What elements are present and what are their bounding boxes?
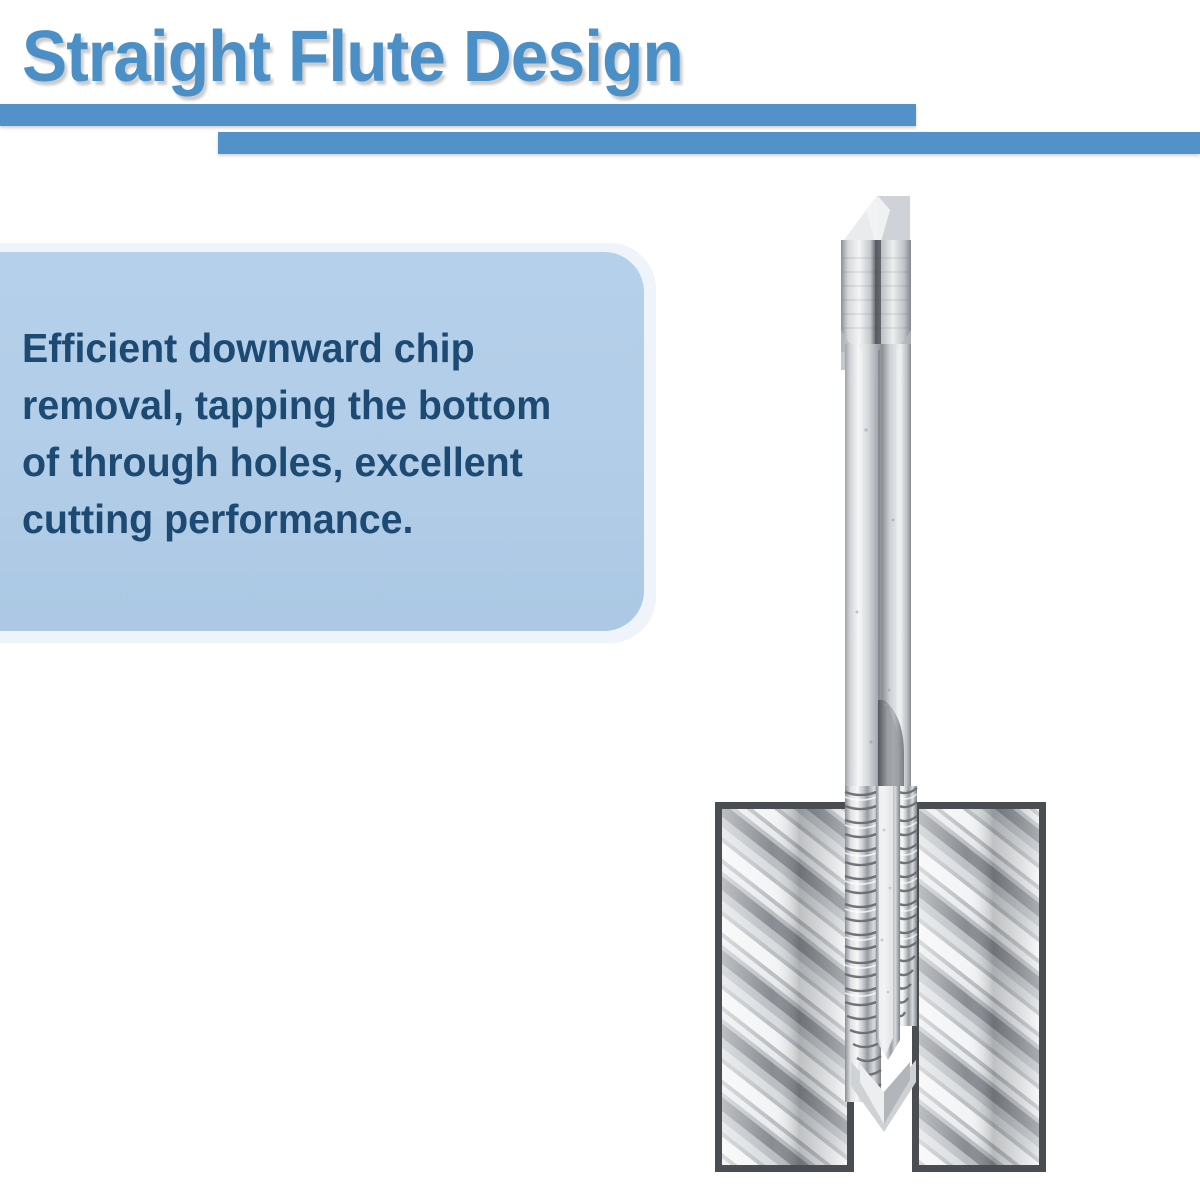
tap-threads-left [845,786,881,1102]
tap-tool [841,196,917,1132]
workpiece-left-block [715,802,854,1172]
tool-illustration [0,0,1200,1200]
workpiece-right-block [912,802,1046,1172]
product-feature-slide: Straight Flute Design Efficient downward… [0,0,1200,1200]
